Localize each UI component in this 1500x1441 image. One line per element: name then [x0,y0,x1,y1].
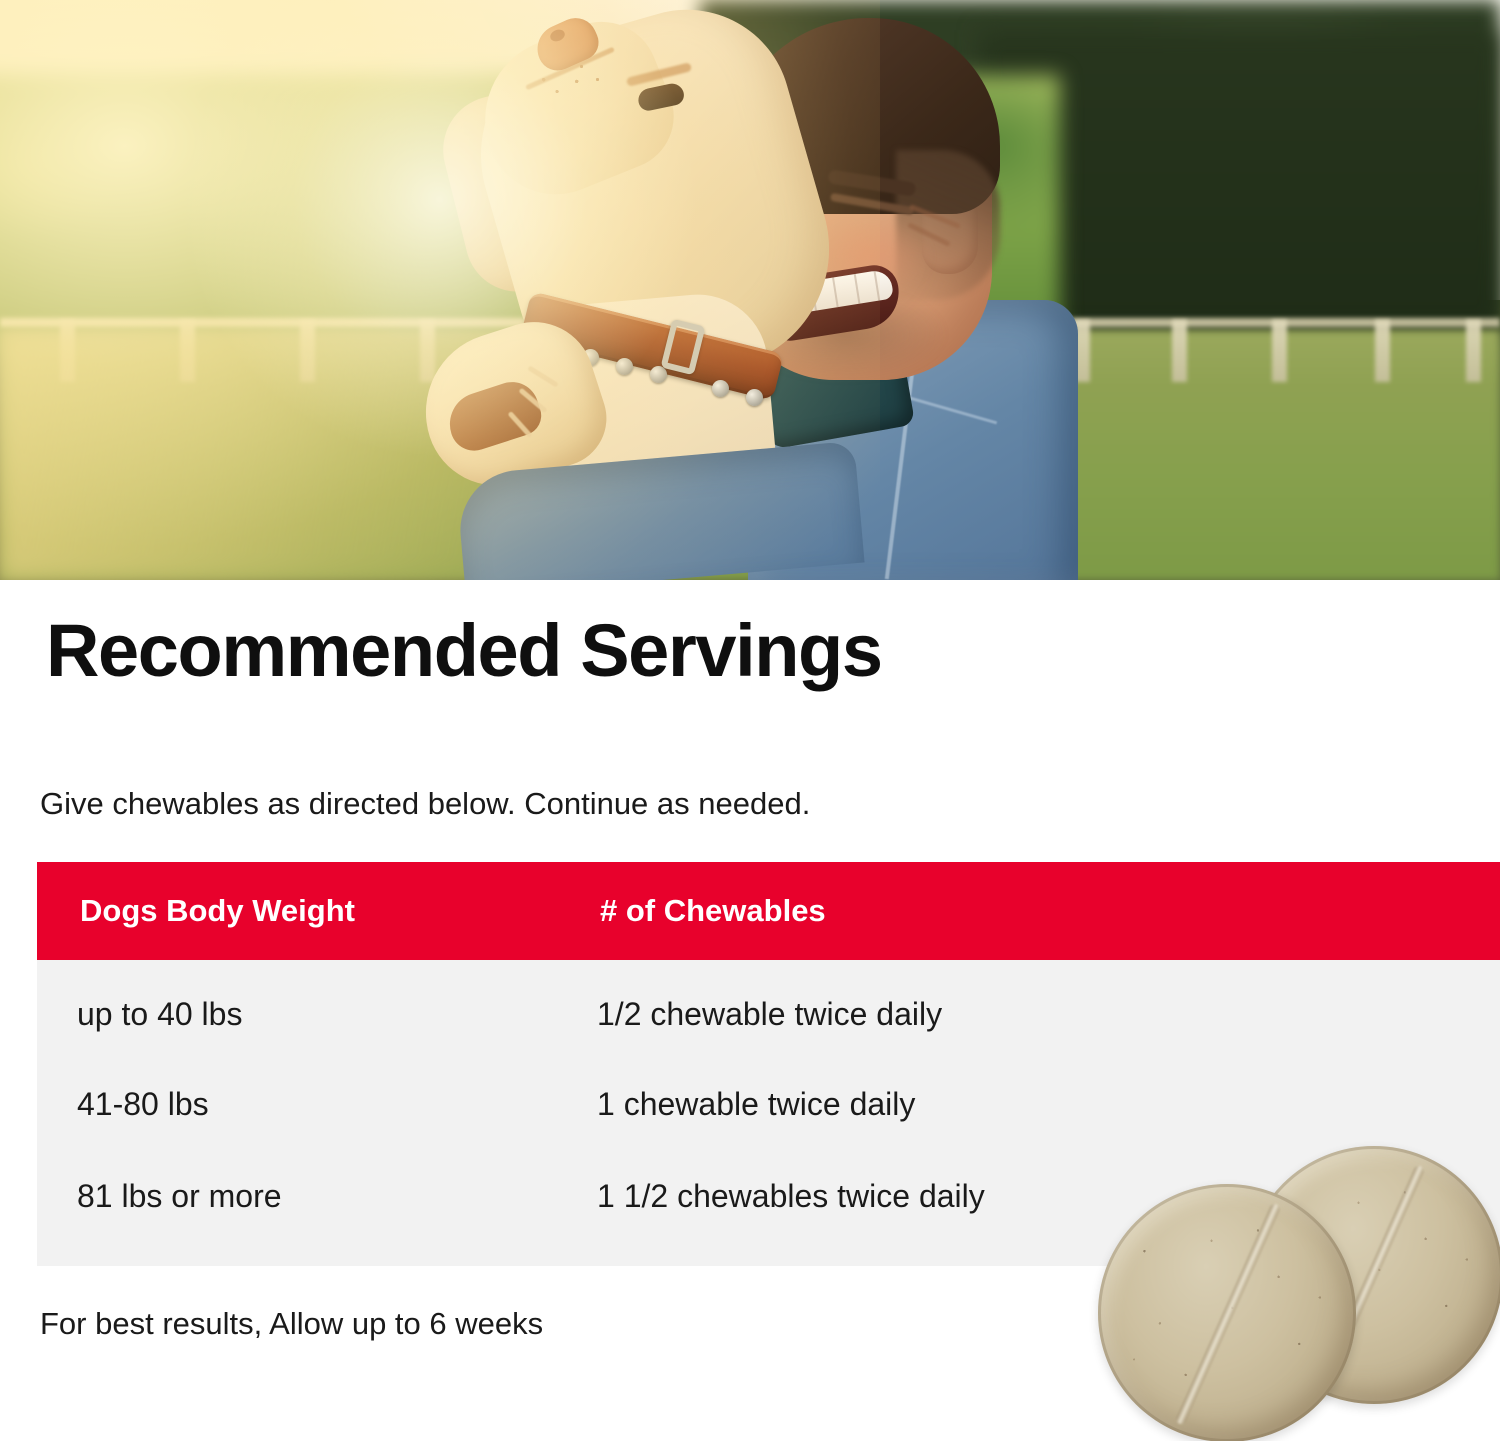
hero-photo-dog-and-owner [0,0,1500,580]
collar-stud [746,389,763,406]
page-title: Recommended Servings [46,614,882,688]
table-header-weight: Dogs Body Weight [80,893,600,929]
fence-post [1272,320,1287,382]
cell-weight: up to 40 lbs [77,996,597,1033]
collar-stud [712,380,729,397]
table-header-row: Dogs Body Weight # of Chewables [37,862,1500,960]
table-row: 41-80 lbs 1 chewable twice daily [37,1058,1500,1150]
cell-chewables: 1 1/2 chewables twice daily [597,1178,985,1215]
cell-chewables: 1 chewable twice daily [597,1086,915,1123]
collar-stud [616,358,633,375]
footnote-text: For best results, Allow up to 6 weeks [40,1306,543,1342]
intro-text: Give chewables as directed below. Contin… [40,785,810,822]
chewable-tablets-image [1095,1140,1500,1440]
cell-weight: 81 lbs or more [77,1178,597,1215]
fence-post [1172,320,1187,382]
product-detail-page: Recommended Servings Give chewables as d… [0,0,1500,1441]
tablet-rim [1098,1184,1356,1441]
collar-stud [650,366,667,383]
table-row: up to 40 lbs 1/2 chewable twice daily [37,968,1500,1060]
cell-chewables: 1/2 chewable twice daily [597,996,942,1033]
cell-weight: 41-80 lbs [77,1086,597,1123]
table-header-chewables: # of Chewables [600,893,826,929]
fence-post [1466,320,1481,382]
hero-subject-group [430,0,1050,580]
fence-post [1375,320,1390,382]
